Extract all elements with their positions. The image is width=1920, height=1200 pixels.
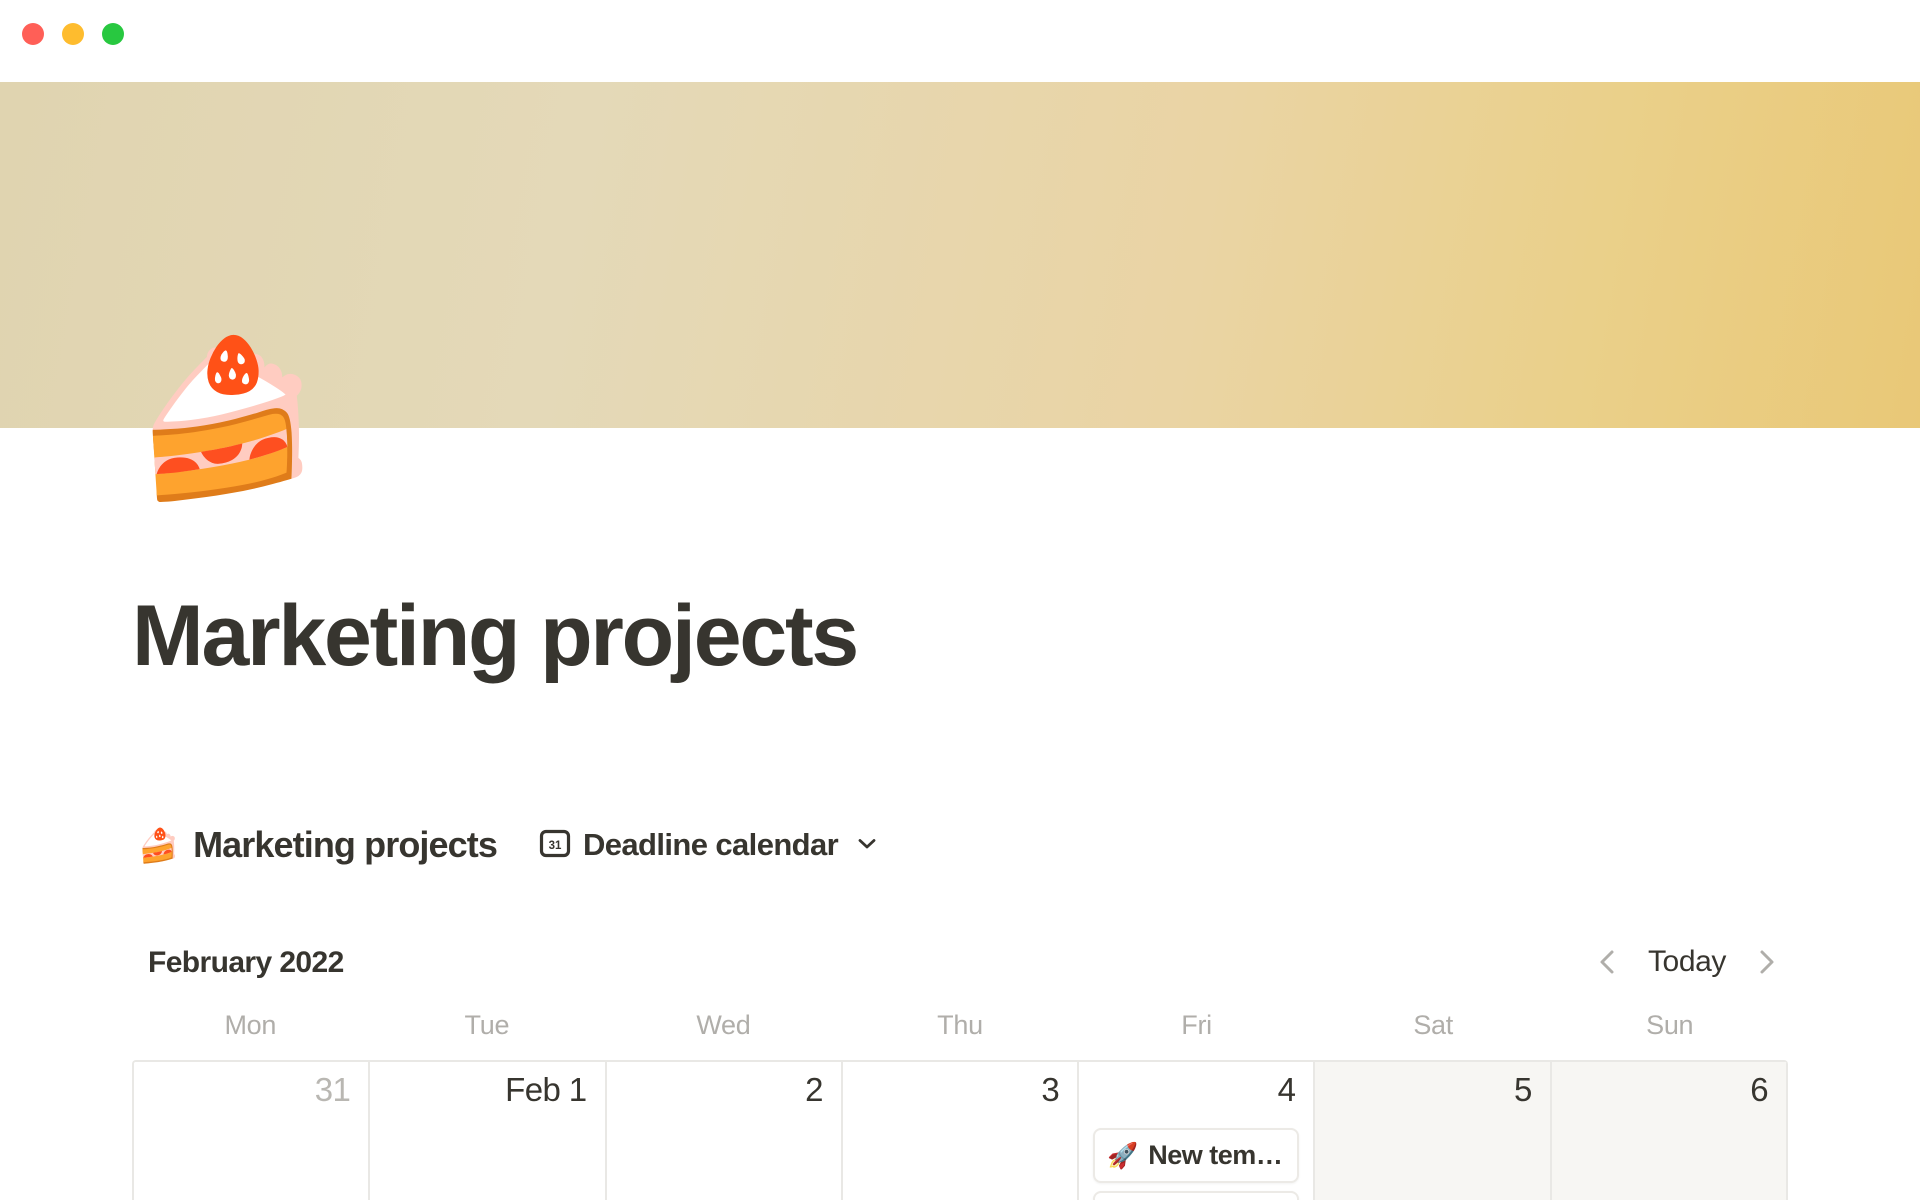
calendar-day-cell[interactable]: 31 bbox=[134, 1062, 370, 1200]
calendar-month-label: February 2022 bbox=[148, 946, 344, 980]
database-view-label: Deadline calendar bbox=[583, 827, 838, 863]
page-title[interactable]: Marketing projects bbox=[132, 590, 1732, 683]
weekday-label-wed: Wed bbox=[605, 1012, 842, 1060]
calendar-event-card[interactable]: 🎩 bbox=[1093, 1191, 1299, 1200]
calendar-31-icon: 31 bbox=[539, 827, 571, 864]
maximize-window-button[interactable] bbox=[102, 23, 124, 45]
chevron-right-icon[interactable] bbox=[1744, 940, 1788, 984]
calendar-day-number: 31 bbox=[134, 1070, 368, 1110]
calendar-day-cell[interactable]: 5 bbox=[1315, 1062, 1551, 1200]
calendar-day-number: 3 bbox=[843, 1070, 1077, 1110]
inline-database-header: 🍰 Marketing projects 31 Deadline calenda… bbox=[132, 820, 888, 870]
weekday-label-sat: Sat bbox=[1315, 1012, 1552, 1060]
calendar-day-number: 4 bbox=[1079, 1070, 1313, 1110]
chevron-left-icon[interactable] bbox=[1586, 940, 1630, 984]
close-window-button[interactable] bbox=[22, 23, 44, 45]
calendar-day-number: Feb 1 bbox=[370, 1070, 604, 1110]
database-name: Marketing projects bbox=[193, 824, 497, 866]
weekday-label-thu: Thu bbox=[842, 1012, 1079, 1060]
window-titlebar bbox=[0, 0, 1920, 82]
weekday-label-sun: Sun bbox=[1551, 1012, 1788, 1060]
page-icon-emoji[interactable]: 🍰 bbox=[132, 330, 310, 508]
event-emoji-icon: 🚀 bbox=[1107, 1143, 1138, 1168]
weekday-label-tue: Tue bbox=[369, 1012, 606, 1060]
today-button[interactable]: Today bbox=[1634, 941, 1740, 983]
database-view-selector[interactable]: 31 Deadline calendar bbox=[533, 825, 888, 866]
database-title-group[interactable]: 🍰 Marketing projects bbox=[132, 822, 503, 868]
cake-icon: 🍰 bbox=[138, 829, 179, 862]
calendar-weekday-header: MonTueWedThuFriSatSun bbox=[132, 1012, 1788, 1060]
calendar-event-list: 🚀New tem…🎩 bbox=[1079, 1128, 1313, 1200]
event-title: New tem… bbox=[1148, 1140, 1282, 1171]
chevron-down-icon[interactable] bbox=[852, 828, 882, 863]
calendar-toolbar: February 2022 Today bbox=[132, 940, 1788, 996]
weekday-label-fri: Fri bbox=[1078, 1012, 1315, 1060]
svg-text:31: 31 bbox=[549, 840, 562, 852]
calendar-day-cell[interactable]: Feb 1 bbox=[370, 1062, 606, 1200]
calendar-day-cell[interactable]: 4🚀New tem…🎩 bbox=[1079, 1062, 1315, 1200]
calendar-day-number: 2 bbox=[607, 1070, 841, 1110]
calendar-day-number: 6 bbox=[1552, 1070, 1786, 1110]
minimize-window-button[interactable] bbox=[62, 23, 84, 45]
window-controls bbox=[22, 23, 124, 45]
calendar-day-number: 5 bbox=[1315, 1070, 1549, 1110]
calendar-day-cell[interactable]: 3 bbox=[843, 1062, 1079, 1200]
calendar-day-cell[interactable]: 2 bbox=[607, 1062, 843, 1200]
calendar-navigation: Today bbox=[1586, 940, 1788, 984]
calendar-grid: 31Feb 1234🚀New tem…🎩56 bbox=[132, 1060, 1788, 1200]
calendar-event-card[interactable]: 🚀New tem… bbox=[1093, 1128, 1299, 1183]
weekday-label-mon: Mon bbox=[132, 1012, 369, 1060]
calendar-day-cell[interactable]: 6 bbox=[1552, 1062, 1788, 1200]
